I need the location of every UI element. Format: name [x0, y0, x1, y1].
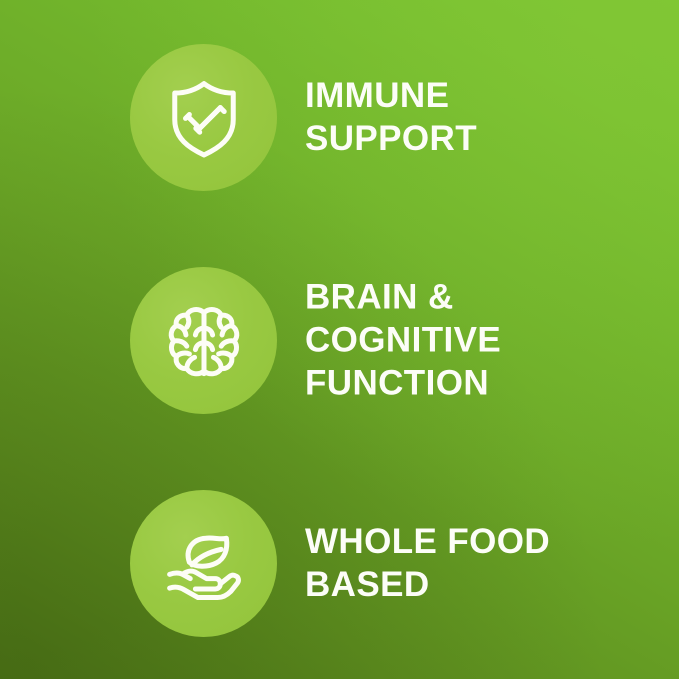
- brain-icon: [161, 298, 247, 384]
- feature-list: IMMUNE SUPPORT: [0, 0, 679, 679]
- feature-label: WHOLE FOOD BASED: [305, 520, 655, 606]
- feature-row: WHOLE FOOD BASED: [0, 488, 679, 638]
- benefits-infographic: IMMUNE SUPPORT: [0, 0, 679, 679]
- feature-row: IMMUNE SUPPORT: [0, 42, 679, 192]
- icon-badge-immune-support: [130, 44, 277, 191]
- feature-label: BRAIN & COGNITIVE FUNCTION: [305, 275, 655, 404]
- shield-check-icon: [161, 75, 247, 161]
- feature-label: IMMUNE SUPPORT: [305, 74, 655, 160]
- feature-row: BRAIN & COGNITIVE FUNCTION: [0, 265, 679, 415]
- icon-badge-whole-food-based: [130, 490, 277, 637]
- hand-holding-leaf-icon: [161, 521, 247, 607]
- icon-badge-brain-cognitive-function: [130, 267, 277, 414]
